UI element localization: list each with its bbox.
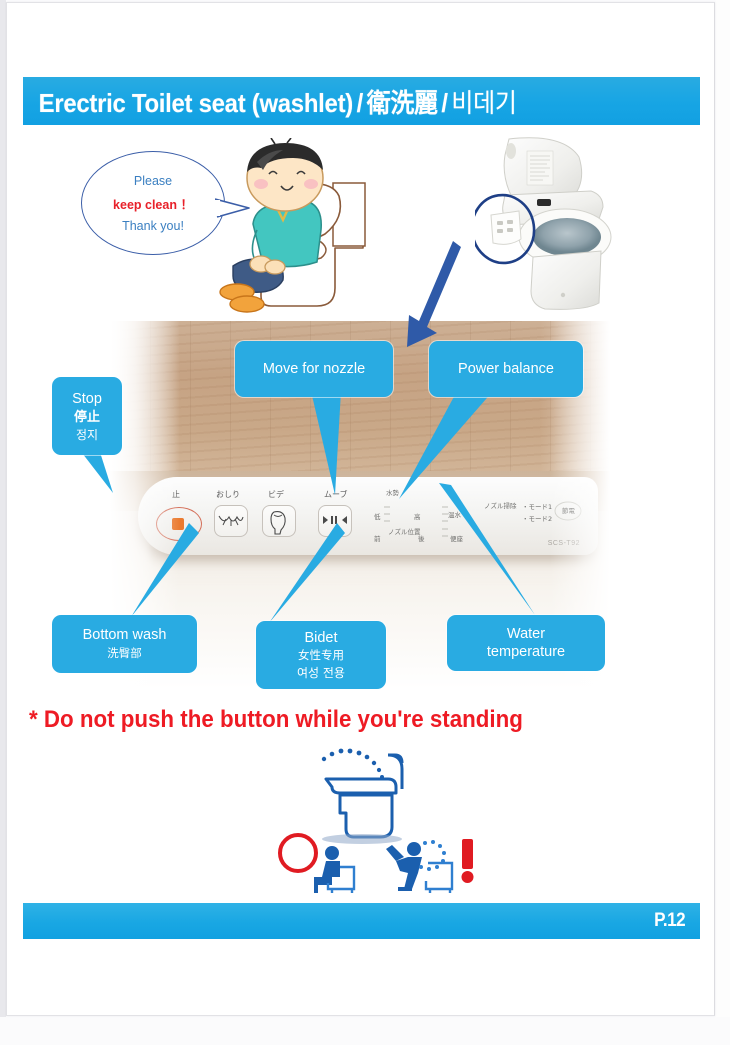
remote-label-bottom-wash: おしり	[216, 489, 240, 500]
callout-water-temperature[interactable]: Water temperature	[447, 615, 605, 671]
document-sheet: Erectric Toilet seat (washlet)/衛洗麗/비데기 P…	[6, 2, 715, 1016]
stop-callout-tail-icon	[79, 449, 119, 495]
water-temp-callout-tail-icon	[435, 483, 539, 619]
callout-bidet-kr: 여성 전용	[297, 665, 345, 681]
bidet-callout-tail-icon	[267, 523, 347, 625]
title-korean: 비데기	[451, 89, 516, 119]
callout-stop-en: Stop	[72, 390, 102, 408]
bottom-wash-icon	[218, 513, 244, 529]
callout-water-temp-en-1: Water	[507, 625, 545, 643]
title-chinese: 衛洗麗	[367, 89, 438, 119]
callout-move-en: Move for nozzle	[263, 360, 365, 378]
callout-power-balance[interactable]: Power balance	[429, 341, 583, 397]
callout-bottom-wash-en: Bottom wash	[83, 626, 167, 644]
illustration-row: Please keep clean ！ Thank you!	[23, 133, 713, 323]
washlet-to-photo-arrow-icon	[393, 235, 463, 355]
speech-line-3: Thank you!	[122, 219, 184, 233]
washlet-product-photo	[475, 133, 635, 318]
callout-bottom-wash[interactable]: Bottom wash 洗臀部	[52, 615, 197, 673]
page-gutter-right	[716, 0, 730, 1017]
speech-bubble: Please keep clean ！ Thank you!	[81, 151, 225, 255]
document-page: Erectric Toilet seat (washlet)/衛洗麗/비데기 P…	[0, 0, 730, 1045]
callout-stop[interactable]: Stop 停止 정지	[52, 377, 122, 455]
speech-line-2: keep clean ！	[113, 194, 193, 213]
title-banner: Erectric Toilet seat (washlet)/衛洗麗/비데기	[23, 77, 700, 125]
title-english: Erectric Toilet seat (washlet)	[39, 88, 353, 118]
callout-bidet[interactable]: Bidet 女性专用 여성 전용	[256, 621, 386, 689]
speech-line-1: Please	[134, 174, 172, 188]
callout-bidet-en: Bidet	[304, 629, 337, 647]
footer-bar: P.12	[23, 903, 700, 939]
warning-text: * Do not push the button while you're st…	[29, 706, 523, 734]
callout-move-for-nozzle[interactable]: Move for nozzle	[235, 341, 393, 397]
callout-stop-kr: 정지	[76, 427, 98, 443]
title-separator-1: /	[353, 88, 367, 118]
callout-bidet-cn: 女性专用	[298, 648, 344, 664]
move-callout-tail-icon	[307, 391, 347, 497]
callout-stop-cn: 停止	[74, 410, 100, 427]
remote-label-bidet: ビデ	[268, 489, 284, 500]
callout-power-en: Power balance	[458, 360, 554, 378]
page-number: P.12	[654, 910, 700, 932]
callout-bottom-wash-cn: 洗臀部	[107, 646, 142, 662]
callout-water-temp-en-2: temperature	[487, 643, 565, 661]
boy-on-toilet-illustration	[213, 138, 393, 323]
bottom-wash-callout-tail-icon	[131, 523, 201, 619]
page-title: Erectric Toilet seat (washlet)/衛洗麗/비데기	[23, 83, 517, 120]
title-separator-2: /	[438, 88, 452, 118]
standing-warning-pictogram	[262, 743, 482, 893]
